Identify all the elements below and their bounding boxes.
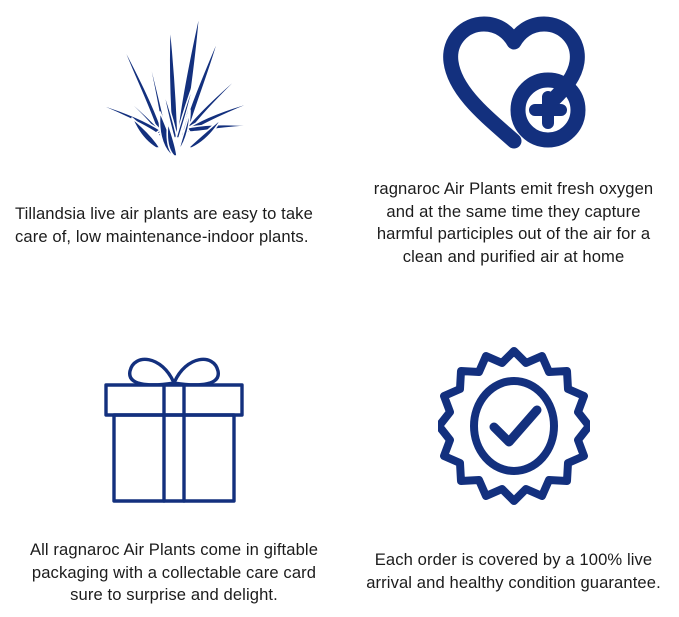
feature-card-gift: All ragnaroc Air Plants come in giftable…: [0, 330, 348, 617]
feature-card-air-plant: Tillandsia live air plants are easy to t…: [0, 0, 348, 330]
gift-box-icon: [0, 330, 348, 505]
feature-grid: Tillandsia live air plants are easy to t…: [0, 0, 679, 617]
feature-caption: Tillandsia live air plants are easy to t…: [9, 203, 339, 248]
feature-caption: All ragnaroc Air Plants come in giftable…: [9, 539, 339, 607]
feature-caption: ragnaroc Air Plants emit fresh oxygen an…: [351, 178, 676, 268]
guarantee-badge-icon: [348, 330, 679, 505]
feature-card-guarantee: Each order is covered by a 100% live arr…: [348, 330, 679, 617]
feature-caption: Each order is covered by a 100% live arr…: [351, 549, 676, 594]
air-plant-icon: [0, 0, 348, 159]
heart-plus-icon: [348, 0, 679, 150]
feature-card-oxygen: ragnaroc Air Plants emit fresh oxygen an…: [348, 0, 679, 330]
